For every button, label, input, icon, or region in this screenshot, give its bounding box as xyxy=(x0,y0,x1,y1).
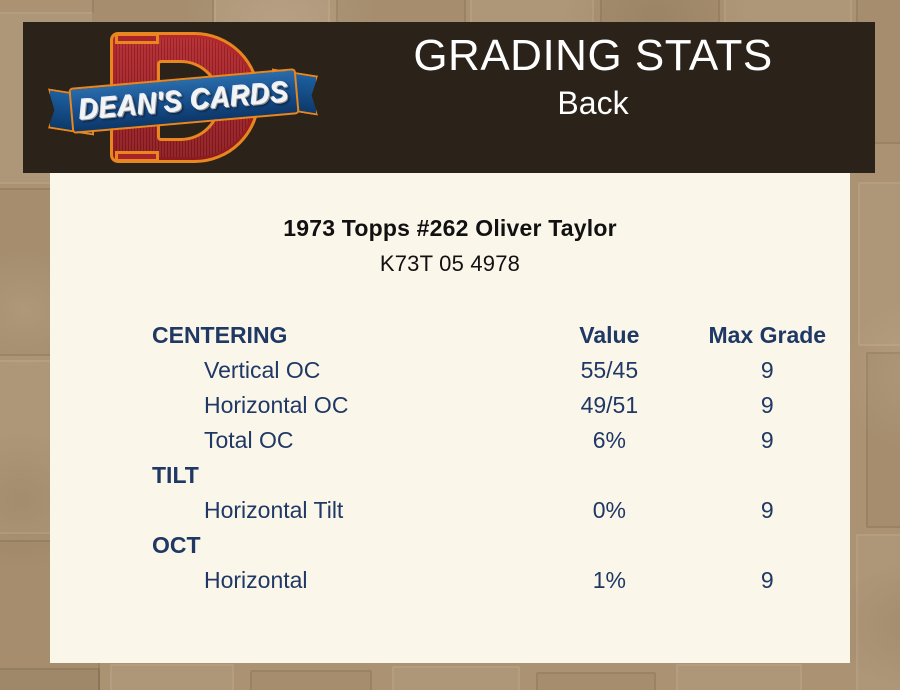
stats-item-value xyxy=(526,528,692,563)
stats-item-value: 0% xyxy=(526,493,692,528)
stats-item-row: Horizontal Tilt0%9 xyxy=(152,493,842,528)
stats-item-max-grade: 9 xyxy=(693,563,842,598)
stats-item-row: Vertical OC55/459 xyxy=(152,353,842,388)
stats-section-label: CENTERING xyxy=(152,318,526,353)
column-header-value: Value xyxy=(526,318,692,353)
stats-item-max-grade: 9 xyxy=(693,423,842,458)
stats-item-label: Horizontal OC xyxy=(152,388,526,423)
header-bar: DEAN'S CARDS GRADING STATS Back xyxy=(23,22,875,173)
stats-item-value xyxy=(526,458,692,493)
grading-stats-table: CENTERINGValueMax GradeVertical OC55/459… xyxy=(152,318,842,598)
card-title: 1973 Topps #262 Oliver Taylor xyxy=(50,215,850,242)
stats-item-max-grade xyxy=(693,528,842,563)
stats-item-label: Total OC xyxy=(152,423,526,458)
logo-ribbon-text: DEAN'S CARDS xyxy=(78,75,291,127)
stats-item-label: Horizontal xyxy=(152,563,526,598)
stats-item-value: 6% xyxy=(526,423,692,458)
logo-ribbon-icon: DEAN'S CARDS xyxy=(48,76,318,128)
stats-item-value: 1% xyxy=(526,563,692,598)
stats-item-label: Horizontal Tilt xyxy=(152,493,526,528)
header-titles: GRADING STATS Back xyxy=(323,30,863,122)
stats-item-row: Horizontal OC49/519 xyxy=(152,388,842,423)
deans-cards-logo[interactable]: DEAN'S CARDS xyxy=(48,26,318,169)
stats-item-row: Horizontal1%9 xyxy=(152,563,842,598)
stats-item-label: Vertical OC xyxy=(152,353,526,388)
stats-item-max-grade: 9 xyxy=(693,353,842,388)
card-serial-number: K73T 05 4978 xyxy=(50,251,850,277)
stats-section-label: TILT xyxy=(152,458,526,493)
stats-item-max-grade: 9 xyxy=(693,388,842,423)
page-title: GRADING STATS xyxy=(323,30,863,82)
stats-section-row: CENTERINGValueMax Grade xyxy=(152,318,842,353)
stats-item-max-grade xyxy=(693,458,842,493)
stats-section-row: TILT xyxy=(152,458,842,493)
stats-section-label: OCT xyxy=(152,528,526,563)
page-subtitle: Back xyxy=(323,84,863,122)
stats-item-value: 55/45 xyxy=(526,353,692,388)
column-header-max-grade: Max Grade xyxy=(693,318,842,353)
content-panel: 1973 Topps #262 Oliver Taylor K73T 05 49… xyxy=(50,173,850,663)
stats-item-max-grade: 9 xyxy=(693,493,842,528)
stats-section-row: OCT xyxy=(152,528,842,563)
stats-item-row: Total OC6%9 xyxy=(152,423,842,458)
stats-item-value: 49/51 xyxy=(526,388,692,423)
